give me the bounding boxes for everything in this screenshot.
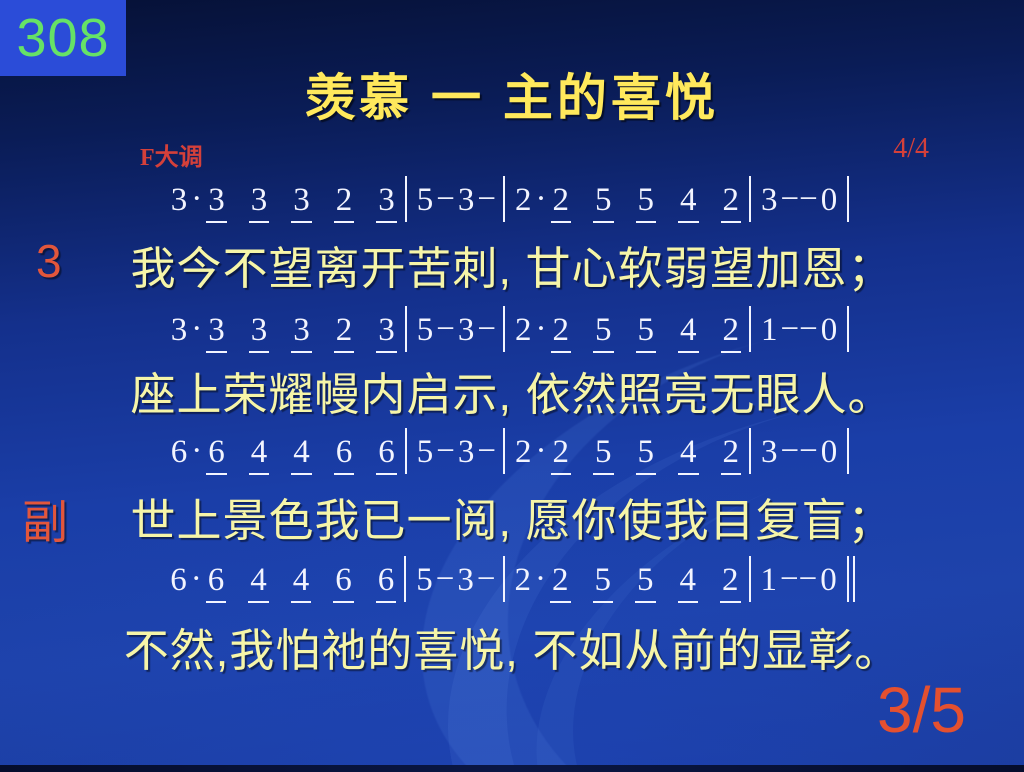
hymn-slide: 308 羡慕 一 主的喜悦 F大调 4/4 3·333235−3−2·25542… xyxy=(0,0,1024,772)
measure: 5−3− xyxy=(414,433,496,476)
augmentation-dot: · xyxy=(190,181,205,224)
note: 2 xyxy=(549,563,572,604)
note: 3 xyxy=(758,435,781,476)
note: 2 xyxy=(512,435,535,476)
note: 6 xyxy=(375,435,398,476)
note: 5 xyxy=(414,313,437,354)
duration-dash: − xyxy=(781,433,800,476)
note: 2 xyxy=(720,313,743,354)
measure: 2·25542 xyxy=(512,433,742,476)
barline xyxy=(847,176,849,222)
lyric-line: 世上景色我已一阅, 愿你使我目复盲； xyxy=(0,484,1024,549)
note: 6 xyxy=(167,563,190,604)
barline xyxy=(847,428,849,474)
lyric-text: 座上荣耀幔内启示, 依然照亮无眼人。 xyxy=(130,358,893,423)
duration-dash: − xyxy=(781,181,800,224)
note: 2 xyxy=(333,313,356,354)
note: 3 xyxy=(758,183,781,224)
augmentation-dot: · xyxy=(190,561,205,604)
note: 0 xyxy=(818,435,841,476)
page-title: 羡慕 一 主的喜悦 xyxy=(0,58,1024,130)
measure: 5−3− xyxy=(413,561,495,604)
augmentation-dot: · xyxy=(534,561,549,604)
barline xyxy=(749,176,751,222)
barline xyxy=(405,176,407,222)
note: 2 xyxy=(719,563,742,604)
barline xyxy=(503,428,505,474)
note: 3 xyxy=(205,313,228,354)
duration-dash: − xyxy=(799,433,818,476)
barline xyxy=(847,306,849,352)
note: 5 xyxy=(414,183,437,224)
bottom-band xyxy=(0,765,1024,772)
verse-marker: 3 xyxy=(36,234,62,288)
duration-dash: − xyxy=(477,561,496,604)
note: 2 xyxy=(333,183,356,224)
augmentation-dot: · xyxy=(190,311,205,354)
duration-dash: − xyxy=(436,561,455,604)
barline xyxy=(405,306,407,352)
note: 3 xyxy=(290,183,313,224)
measure: 2·25542 xyxy=(512,561,742,604)
note: 4 xyxy=(247,563,270,604)
note: 2 xyxy=(550,435,573,476)
measure: 3·33323 xyxy=(168,181,398,224)
duration-dash: − xyxy=(799,181,818,224)
measure: 1−−0 xyxy=(758,561,840,604)
duration-dash: − xyxy=(780,561,799,604)
note: 5 xyxy=(413,563,436,604)
barline xyxy=(404,556,406,602)
note: 0 xyxy=(818,183,841,224)
note: 4 xyxy=(290,435,313,476)
measure: 3−−0 xyxy=(758,181,840,224)
note: 3 xyxy=(248,183,271,224)
note: 6 xyxy=(375,563,398,604)
note: 3 xyxy=(248,313,271,354)
note: 4 xyxy=(677,435,700,476)
duration-dash: − xyxy=(436,433,455,476)
augmentation-dot: · xyxy=(535,181,550,224)
key-signature: F大调 xyxy=(140,137,203,172)
note: 3 xyxy=(375,313,398,354)
note: 4 xyxy=(677,563,700,604)
note: 3 xyxy=(290,313,313,354)
note: 3 xyxy=(455,183,478,224)
note: 5 xyxy=(635,435,658,476)
duration-dash: − xyxy=(781,311,800,354)
lyric-text: 不然,我怕祂的喜悦, 不如从前的显彰。 xyxy=(124,614,901,679)
augmentation-dot: · xyxy=(535,433,550,476)
note: 5 xyxy=(592,435,615,476)
time-signature: 4/4 xyxy=(893,133,929,165)
measure: 5−3− xyxy=(414,181,496,224)
note: 4 xyxy=(677,313,700,354)
duration-dash: − xyxy=(477,311,496,354)
page-indicator: 3/5 xyxy=(877,678,966,742)
note: 5 xyxy=(635,313,658,354)
note: 2 xyxy=(512,563,535,604)
barline xyxy=(405,428,407,474)
duration-dash: − xyxy=(436,181,455,224)
duration-dash: − xyxy=(477,433,496,476)
duration-dash: − xyxy=(799,311,818,354)
note: 6 xyxy=(205,435,228,476)
note: 1 xyxy=(758,563,781,604)
measure: 6·64466 xyxy=(168,433,398,476)
lyric-text: 我今不望离开苦刺, 甘心软弱望加恩； xyxy=(130,232,893,297)
final-barline xyxy=(847,556,855,602)
note: 6 xyxy=(332,563,355,604)
barline xyxy=(503,306,505,352)
music-stave: 6·644665−3−2·255421−−0 xyxy=(0,556,1024,604)
barline xyxy=(503,176,505,222)
barline xyxy=(503,556,505,602)
note: 3 xyxy=(168,313,191,354)
barline xyxy=(749,306,751,352)
note: 5 xyxy=(414,435,437,476)
measure: 5−3− xyxy=(414,311,496,354)
note: 2 xyxy=(512,183,535,224)
note: 2 xyxy=(720,183,743,224)
duration-dash: − xyxy=(477,181,496,224)
note: 6 xyxy=(205,563,228,604)
lyric-line: 座上荣耀幔内启示, 依然照亮无眼人。 xyxy=(0,358,1024,423)
barline xyxy=(749,556,751,602)
note: 6 xyxy=(168,435,191,476)
note: 3 xyxy=(168,183,191,224)
hymn-number: 308 xyxy=(16,11,109,65)
note: 0 xyxy=(818,313,841,354)
note: 5 xyxy=(635,183,658,224)
lyric-line: 不然,我怕祂的喜悦, 不如从前的显彰。 xyxy=(0,614,1024,679)
note: 2 xyxy=(550,313,573,354)
note: 3 xyxy=(205,183,228,224)
note: 4 xyxy=(248,435,271,476)
note: 5 xyxy=(592,183,615,224)
note: 5 xyxy=(634,563,657,604)
measure: 2·25542 xyxy=(512,181,742,224)
note: 0 xyxy=(817,563,840,604)
note: 5 xyxy=(592,313,615,354)
note: 6 xyxy=(333,435,356,476)
duration-dash: − xyxy=(436,311,455,354)
note: 3 xyxy=(454,563,477,604)
augmentation-dot: · xyxy=(190,433,205,476)
music-stave: 6·644665−3−2·255423−−0 xyxy=(0,428,1024,476)
measure: 2·25542 xyxy=(512,311,742,354)
music-stave: 3·333235−3−2·255421−−0 xyxy=(0,306,1024,354)
note: 2 xyxy=(512,313,535,354)
note: 5 xyxy=(592,563,615,604)
note: 4 xyxy=(290,563,313,604)
lyric-line: 我今不望离开苦刺, 甘心软弱望加恩； xyxy=(0,232,1024,297)
music-stave: 3·333235−3−2·255423−−0 xyxy=(0,176,1024,224)
note: 2 xyxy=(550,183,573,224)
augmentation-dot: · xyxy=(535,311,550,354)
note: 3 xyxy=(455,435,478,476)
barline xyxy=(749,428,751,474)
measure: 6·64466 xyxy=(167,561,397,604)
duration-dash: − xyxy=(799,561,818,604)
note: 1 xyxy=(758,313,781,354)
note: 3 xyxy=(375,183,398,224)
verse-marker: 副 xyxy=(22,486,68,552)
lyric-text: 世上景色我已一阅, 愿你使我目复盲； xyxy=(130,484,893,549)
measure: 1−−0 xyxy=(758,311,840,354)
note: 4 xyxy=(677,183,700,224)
note: 2 xyxy=(720,435,743,476)
note: 3 xyxy=(455,313,478,354)
measure: 3−−0 xyxy=(758,433,840,476)
measure: 3·33323 xyxy=(168,311,398,354)
